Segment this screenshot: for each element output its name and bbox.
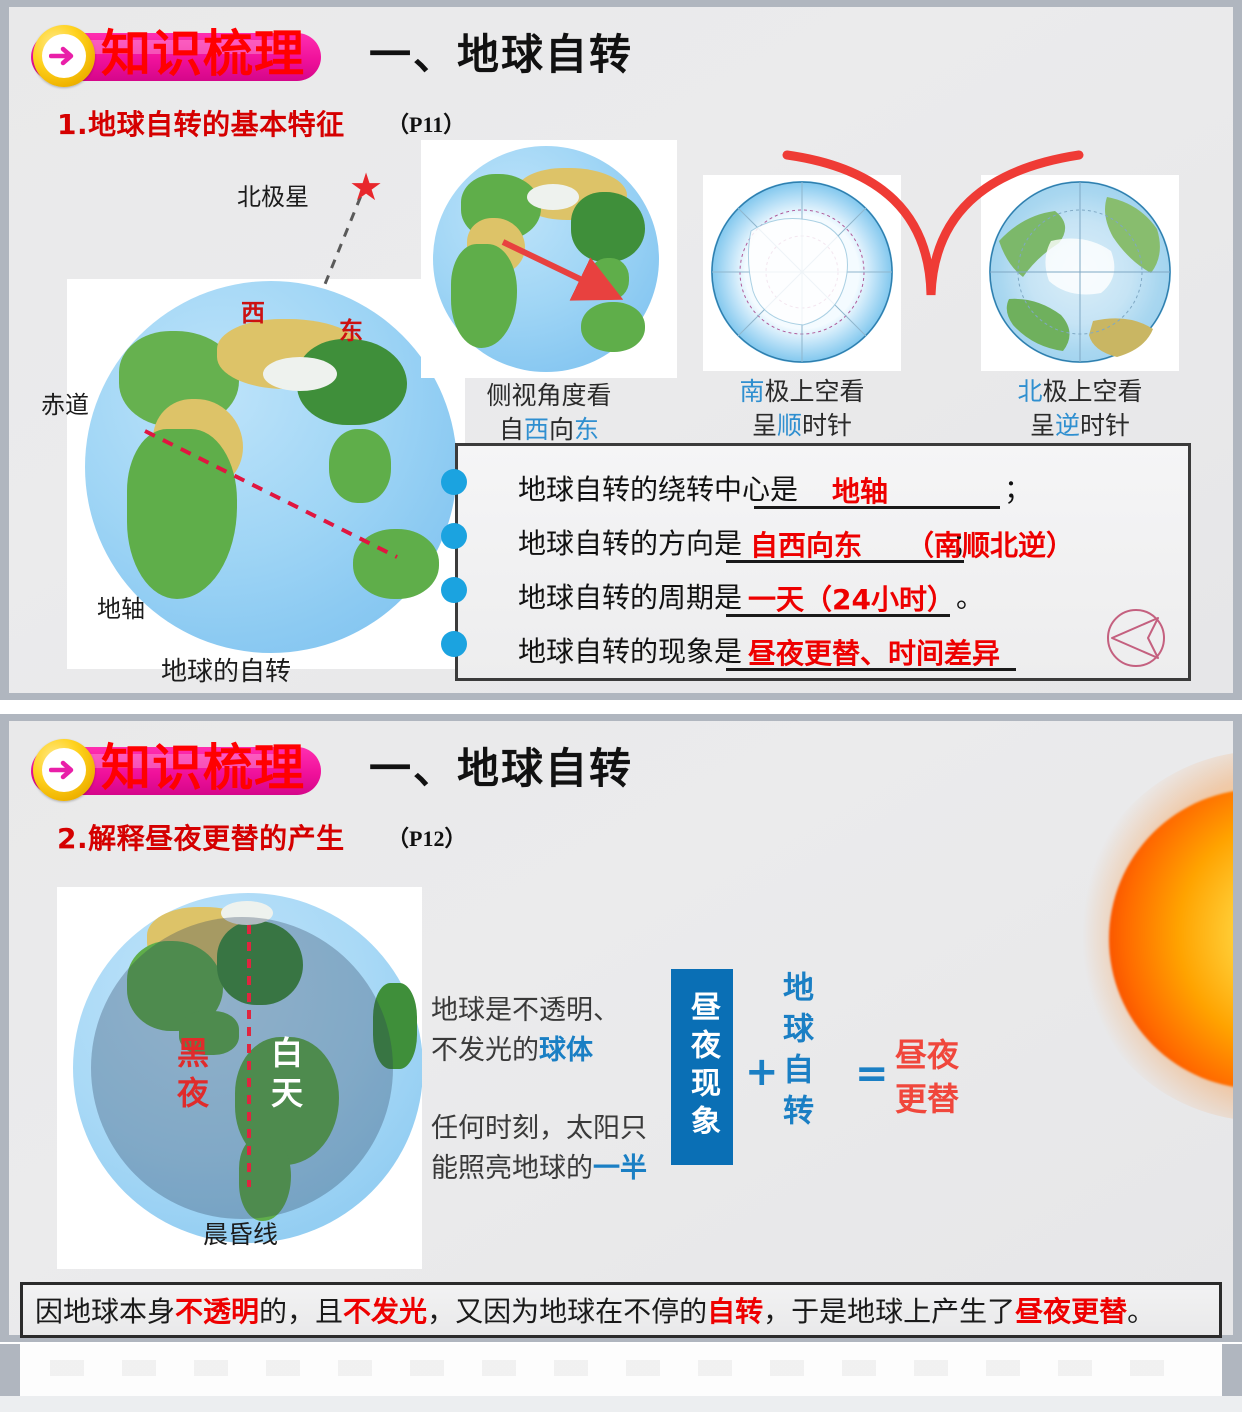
- figure-caption-north-polar: 北极上空看 呈逆时针: [977, 375, 1183, 443]
- answer-text-4: 昼夜更替、时间差异: [748, 632, 1000, 672]
- fill-in-the-blank-box: 地球自转的绕转中心是 地轴 ； 地球自转的方向是 ； 自西向东 （南顺北逆） 地…: [455, 443, 1191, 681]
- question-tail-1: ；: [1004, 468, 1032, 508]
- equation-term-1-box: 昼夜现象: [671, 969, 733, 1165]
- conclusion-part-4: ，于是地球上产生了: [763, 1295, 1015, 1328]
- label-west: 西: [241, 293, 265, 328]
- page-edge-left: [0, 1344, 20, 1396]
- footer-area: [20, 1344, 1222, 1396]
- side-view-globe-image: [421, 140, 677, 378]
- caption-line-2: 自西向东: [441, 413, 657, 447]
- rotation-direction-arc: [779, 145, 1089, 310]
- answer-text-2: 自西向东: [750, 524, 862, 564]
- equation-term-1: 昼夜现象: [687, 991, 717, 1143]
- bottom-strip: [0, 1396, 1242, 1412]
- equation-term-2: 地球自转: [779, 971, 810, 1135]
- conclusion-text: 因地球本身不透明的，且不发光，又因为地球在不停的自转，于是地球上产生了昼夜更替。: [23, 1290, 1155, 1330]
- conclusion-part-1: 因地球本身: [35, 1295, 175, 1328]
- slide-deck-page: 知识梳理 一、地球自转 1.地球自转的基本特征 （P11） 西 东 北极星: [0, 0, 1242, 1412]
- badge-label: 知识梳理: [101, 25, 305, 83]
- conclusion-part-3: ，又因为地球在不停的: [427, 1295, 707, 1328]
- question-prompt-4: 地球自转的现象是: [518, 630, 742, 670]
- bullet-dot-2: [441, 523, 467, 549]
- arrow-left-circle-icon: [1102, 604, 1170, 672]
- equation-result-line-1: 昼夜: [895, 1033, 959, 1077]
- slide-2-subtitle: 2.解释昼夜更替的产生: [57, 817, 345, 857]
- slide-1-header: 知识梳理 一、地球自转 1.地球自转的基本特征 （P11）: [9, 7, 1233, 99]
- caption-line-2: 呈逆时针: [977, 409, 1183, 443]
- question-prompt-3: 地球自转的周期是: [518, 576, 742, 616]
- answer-text-1: 地轴: [832, 470, 888, 510]
- slide-1-subtitle: 1.地球自转的基本特征: [57, 103, 345, 143]
- slide-1: 知识梳理 一、地球自转 1.地球自转的基本特征 （P11） 西 东 北极星: [0, 0, 1242, 700]
- equation-result: 昼夜 更替: [895, 1033, 959, 1121]
- section-title: 一、地球自转: [369, 743, 633, 795]
- figure-caption-south-polar: 南极上空看 呈顺时针: [699, 375, 905, 443]
- slide-2-page-ref: （P12）: [387, 821, 466, 853]
- question-prompt-2: 地球自转的方向是: [518, 522, 742, 562]
- caption-line-2: 呈顺时针: [699, 409, 905, 443]
- arrow-right-circle-icon: [33, 25, 95, 87]
- conclusion-highlight-4: 昼夜更替: [1015, 1295, 1127, 1328]
- caption-line-1: 北极上空看: [977, 375, 1183, 409]
- footer-ghost-content: [50, 1360, 1192, 1376]
- caption-line-1: 侧视角度看: [441, 379, 657, 413]
- sun-icon: [1083, 721, 1233, 1149]
- paragraph-1-line-2: 不发光的球体: [431, 1031, 620, 1071]
- bullet-dot-1: [441, 469, 467, 495]
- slide-1-page-ref: （P11）: [387, 107, 465, 139]
- label-equator: 赤道: [41, 385, 89, 420]
- explanation-paragraph-1: 地球是不透明、 不发光的球体: [431, 991, 620, 1071]
- label-east: 东: [339, 311, 363, 346]
- star-icon: ★: [349, 169, 383, 207]
- label-terminator: 晨昏线: [203, 1215, 278, 1251]
- paragraph-2-line-2: 能照亮地球的一半: [431, 1149, 647, 1189]
- conclusion-part-5: 。: [1127, 1295, 1155, 1328]
- caption-line-1: 南极上空看: [699, 375, 905, 409]
- conclusion-bar: 因地球本身不透明的，且不发光，又因为地球在不停的自转，于是地球上产生了昼夜更替。: [20, 1282, 1222, 1338]
- answer-extra-2: （南顺北逆）: [906, 524, 1074, 564]
- bullet-dot-4: [441, 631, 467, 657]
- paragraph-1-line-1: 地球是不透明、: [431, 991, 620, 1031]
- arrow-right-circle-icon: [33, 739, 95, 801]
- label-night: 黑夜: [169, 1033, 217, 1113]
- label-earth-rotation: 地球的自转: [161, 651, 291, 688]
- highlight-half: 一半: [593, 1153, 647, 1184]
- explanation-paragraph-2: 任何时刻，太阳只 能照亮地球的一半: [431, 1109, 647, 1189]
- equation-plus-operator: +: [745, 1049, 779, 1095]
- badge-label: 知识梳理: [101, 739, 305, 797]
- conclusion-part-2: 的，且: [259, 1295, 343, 1328]
- question-tail-3: 。: [956, 576, 984, 616]
- answer-text-3: 一天（24小时）: [748, 578, 955, 618]
- slide-2: 知识梳理 一、地球自转 2.解释昼夜更替的产生 （P12） 黑夜 白天: [0, 714, 1242, 1342]
- equation-equals-operator: =: [855, 1051, 889, 1097]
- slide-gap: [0, 700, 1242, 714]
- paragraph-2-line-1: 任何时刻，太阳只: [431, 1109, 647, 1149]
- conclusion-highlight-2: 不发光: [343, 1295, 427, 1328]
- conclusion-highlight-1: 不透明: [175, 1295, 259, 1328]
- slide-2-header: 知识梳理 一、地球自转 2.解释昼夜更替的产生 （P12）: [9, 721, 1233, 813]
- figure-caption-side-view: 侧视角度看 自西向东: [441, 379, 657, 447]
- day-night-globe-image: 黑夜 白天: [57, 887, 422, 1269]
- question-prompt-1: 地球自转的绕转中心是: [518, 468, 798, 508]
- highlight-sphere: 球体: [539, 1035, 593, 1066]
- conclusion-highlight-3: 自转: [707, 1295, 763, 1328]
- equation-term-2-text: 地球自转: [779, 971, 810, 1135]
- equation-result-line-2: 更替: [895, 1077, 959, 1121]
- label-axis: 地轴: [97, 589, 145, 624]
- section-title: 一、地球自转: [369, 29, 633, 81]
- label-polaris: 北极星: [237, 177, 309, 212]
- label-day: 白天: [265, 1033, 309, 1113]
- bullet-dot-3: [441, 577, 467, 603]
- page-edge-right: [1222, 1344, 1242, 1396]
